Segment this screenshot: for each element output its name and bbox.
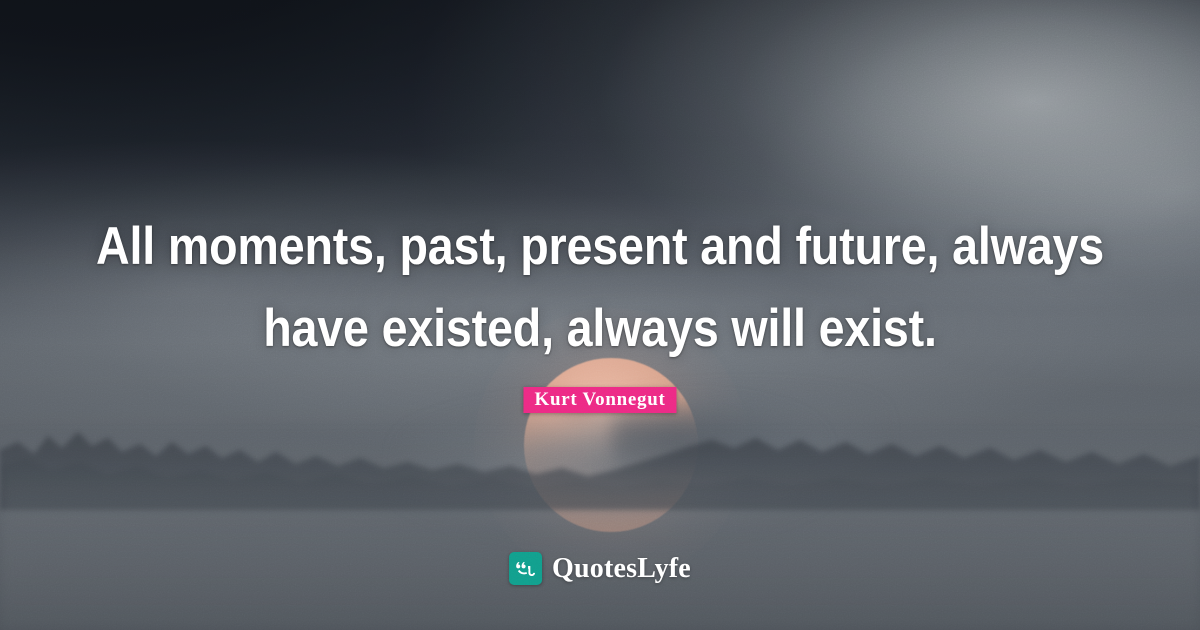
quote-line-2: have existed, always will exist. bbox=[72, 288, 1128, 370]
author-name: Kurt Vonnegut bbox=[534, 390, 665, 409]
quote-text: All moments, past, present and future, a… bbox=[0, 206, 1200, 370]
brand-name: QuotesLyfe bbox=[552, 555, 691, 583]
quotation-mark-icon bbox=[509, 552, 542, 585]
card-content: All moments, past, present and future, a… bbox=[0, 0, 1200, 630]
author-badge: Kurt Vonnegut bbox=[523, 387, 676, 413]
quote-card: All moments, past, present and future, a… bbox=[0, 0, 1200, 630]
quote-line-1: All moments, past, present and future, a… bbox=[72, 206, 1128, 288]
brand-logo: QuotesLyfe bbox=[509, 552, 691, 585]
